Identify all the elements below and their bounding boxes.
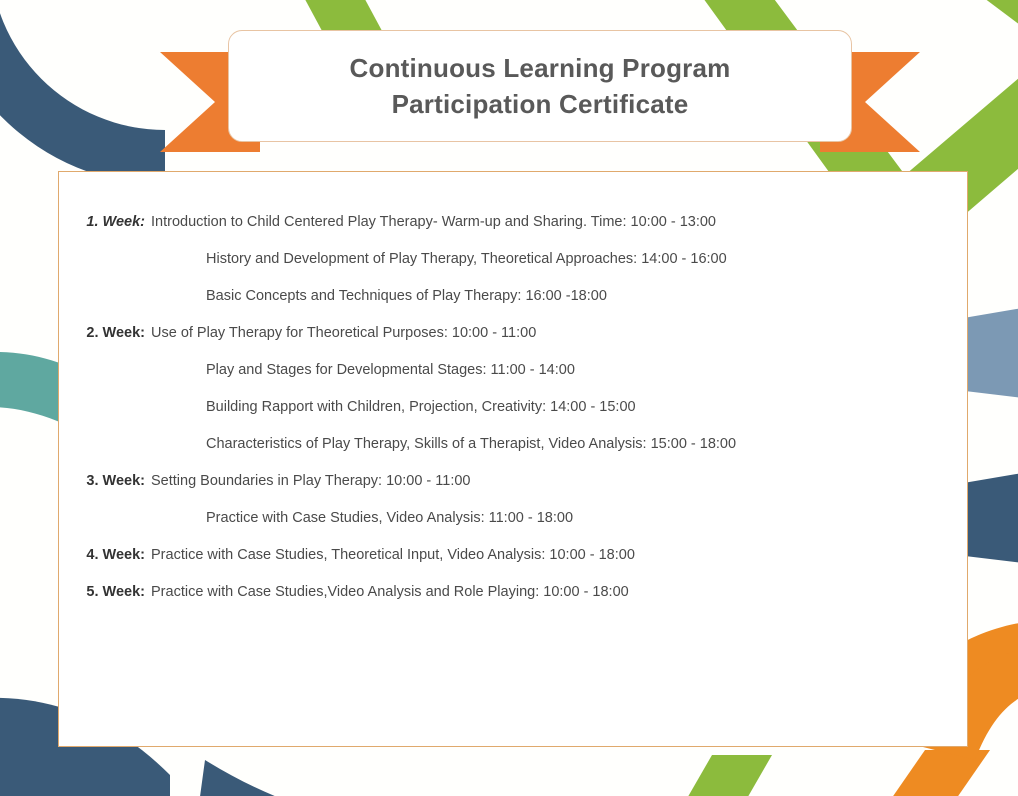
week-first-line-text: Setting Boundaries in Play Therapy: 10:0… bbox=[145, 473, 470, 489]
week-sub-line: Building Rapport with Children, Projecti… bbox=[71, 389, 943, 426]
week-label: 3. Week: bbox=[71, 463, 145, 500]
schedule-list: 1. Week:Introduction to Child Centered P… bbox=[71, 204, 943, 611]
week-first-line-text: Introduction to Child Centered Play Ther… bbox=[145, 214, 716, 230]
week-block: 1. Week:Introduction to Child Centered P… bbox=[71, 204, 943, 315]
week-sub-line: Basic Concepts and Techniques of Play Th… bbox=[71, 278, 943, 315]
week-sub-line: History and Development of Play Therapy,… bbox=[71, 241, 943, 278]
navy-arc-top-left bbox=[0, 0, 165, 185]
week-block: 4. Week:Practice with Case Studies, Theo… bbox=[71, 537, 943, 574]
week-heading-line: 1. Week:Introduction to Child Centered P… bbox=[71, 204, 943, 241]
week-block: 3. Week:Setting Boundaries in Play Thera… bbox=[71, 463, 943, 537]
week-label: 5. Week: bbox=[71, 574, 145, 611]
content-frame: 1. Week:Introduction to Child Centered P… bbox=[58, 171, 968, 747]
certificate-title-line-1: Continuous Learning Program bbox=[350, 50, 731, 86]
certificate-title-line-2: Participation Certificate bbox=[392, 86, 689, 122]
week-first-line-text: Practice with Case Studies, Theoretical … bbox=[145, 547, 635, 563]
week-first-line-text: Use of Play Therapy for Theoretical Purp… bbox=[145, 325, 536, 341]
navy-sweep-bottom bbox=[190, 760, 400, 796]
week-heading-line: 3. Week:Setting Boundaries in Play Thera… bbox=[71, 463, 943, 500]
week-sub-line: Practice with Case Studies, Video Analys… bbox=[71, 500, 943, 537]
certificate-page: Continuous Learning Program Participatio… bbox=[0, 0, 1018, 796]
week-block: 2. Week:Use of Play Therapy for Theoreti… bbox=[71, 315, 943, 463]
week-block: 5. Week:Practice with Case Studies,Video… bbox=[71, 574, 943, 611]
green-arc-top-right-inner bbox=[960, 0, 1018, 40]
week-label: 4. Week: bbox=[71, 537, 145, 574]
title-plate: Continuous Learning Program Participatio… bbox=[228, 30, 852, 142]
week-heading-line: 5. Week:Practice with Case Studies,Video… bbox=[71, 574, 943, 611]
week-sub-line: Characteristics of Play Therapy, Skills … bbox=[71, 426, 943, 463]
week-sub-line: Play and Stages for Developmental Stages… bbox=[71, 352, 943, 389]
week-first-line-text: Practice with Case Studies,Video Analysi… bbox=[145, 584, 629, 600]
green-stripe-bottom bbox=[640, 755, 772, 796]
week-label: 1. Week: bbox=[71, 204, 145, 241]
week-heading-line: 2. Week:Use of Play Therapy for Theoreti… bbox=[71, 315, 943, 352]
week-heading-line: 4. Week:Practice with Case Studies, Theo… bbox=[71, 537, 943, 574]
week-label: 2. Week: bbox=[71, 315, 145, 352]
header-ribbon: Continuous Learning Program Participatio… bbox=[160, 30, 920, 142]
